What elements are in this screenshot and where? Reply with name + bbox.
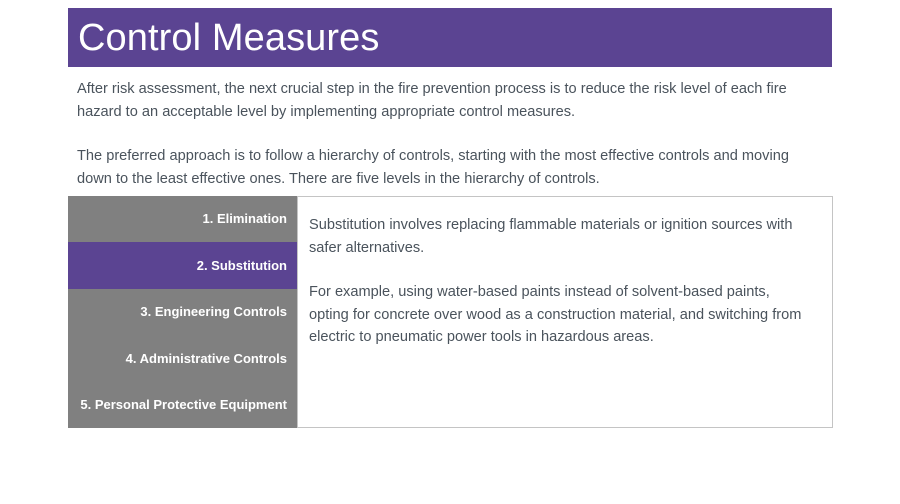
tab-panel-substitution: Substitution involves replacing flammabl… — [297, 196, 833, 428]
intro-paragraph-2: The preferred approach is to follow a hi… — [77, 145, 825, 190]
intro-paragraph-1: After risk assessment, the next crucial … — [77, 78, 825, 123]
tab-administrative-controls[interactable]: 4. Administrative Controls — [68, 335, 297, 381]
intro-text-block: After risk assessment, the next crucial … — [77, 78, 825, 190]
tab-elimination[interactable]: 1. Elimination — [68, 196, 297, 242]
panel-paragraph-2: For example, using water-based paints in… — [309, 281, 812, 349]
page-title: Control Measures — [68, 19, 380, 57]
tab-list: 1. Elimination 2. Substitution 3. Engine… — [68, 196, 297, 428]
panel-paragraph-1: Substitution involves replacing flammabl… — [309, 214, 812, 259]
hierarchy-of-controls-tabs: 1. Elimination 2. Substitution 3. Engine… — [68, 196, 833, 428]
page-header-banner: Control Measures — [68, 8, 832, 67]
page-root: Control Measures After risk assessment, … — [0, 0, 900, 504]
tab-substitution[interactable]: 2. Substitution — [68, 242, 297, 288]
tab-personal-protective-equipment[interactable]: 5. Personal Protective Equipment — [68, 382, 297, 428]
tab-engineering-controls[interactable]: 3. Engineering Controls — [68, 289, 297, 335]
